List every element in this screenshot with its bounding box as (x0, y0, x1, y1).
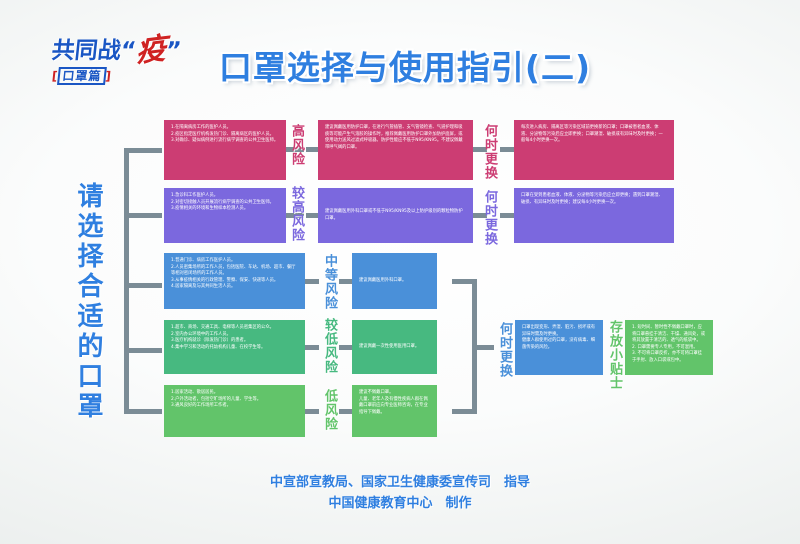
change-label-row-2: 何时更换 (482, 190, 496, 246)
mask-text-row-2: 建议佩戴医用外科口罩或不低于N95/KN95及以上防护级别的颗粒物防护口罩。 (325, 209, 466, 222)
right-bracket-stub-mid (472, 345, 494, 350)
connector-row-1-d (500, 147, 514, 152)
left-bracket-stub-2 (124, 213, 162, 218)
change-text-row-2: 口罩在受到患者血液、体液、分泌物等污染后应立即更换；遇到口罩潮湿、破损、有异味时… (521, 193, 667, 206)
footer: 中宣部宣教局、国家卫生健康委宣传司 指导 中国健康教育中心 制作 (0, 472, 800, 515)
scenario-box-row-2: 1.急诊科工作医护人员。 2.对密切接触人员开展流行病学调查的公共卫生医师。 3… (164, 188, 286, 243)
logo-prefix: 共同战 (50, 38, 122, 64)
campaign-logo: 共同战“疫” [口罩篇] (52, 34, 182, 96)
connector-row-5-b (339, 409, 352, 414)
mask-text-row-1: 建议佩戴医用防护口罩，在进行气管插管、支气管镜检查、气道护理和吸痰等可能产生气溶… (325, 125, 466, 151)
mask-text-row-4: 建议佩戴一次性使用医用口罩。 (359, 344, 430, 351)
risk-label-high: 高风险 (289, 124, 303, 166)
storage-tips-box: 1. 短时间、暂时性不佩戴口罩时，应将口罩悬挂于清洁、干燥、通风处，或将其放置于… (625, 320, 713, 375)
right-bracket-stub-top (452, 279, 477, 284)
scenario-box-row-3: 1.普通门诊、病房工作医护人员。 2.人员密集场所的工作人员，包括医院、车站、机… (164, 253, 305, 309)
footer-line-2: 中国健康教育中心 制作 (0, 493, 800, 514)
connector-row-2-d (500, 213, 514, 218)
connector-row-1-b (306, 147, 318, 152)
logo-main-text: 共同战“疫” (50, 34, 183, 64)
mask-box-row-3: 建议佩戴医用外科口罩。 (352, 253, 437, 309)
scenario-box-row-5: 1.居家活动、散居居民。 2.户外活动者，包括空旷场所的儿童、学生等。 3.通风… (164, 385, 305, 437)
risk-label-lower: 较低风险 (322, 318, 336, 374)
connector-row-4-a (305, 345, 319, 350)
logo-yi-character: 疫 (136, 34, 167, 67)
risk-label-medium: 中等风险 (322, 254, 336, 310)
page-title: 口罩选择与使用指引(二) (205, 46, 605, 90)
logo-subtitle: [口罩篇] (51, 67, 183, 84)
mask-box-row-5: 建议不佩戴口罩。 儿童、老年人及有慢性疾病人群在佩戴口罩前应向专业医师咨询，在专… (352, 385, 437, 437)
connector-row-3-a (305, 279, 319, 284)
scenario-text-row-2: 1.急诊科工作医护人员。 2.对密切接触人员开展流行病学调查的公共卫生医师。 3… (171, 193, 279, 213)
storage-tips-label: 存放小贴士 (607, 320, 621, 390)
footer-line-1: 中宣部宣教局、国家卫生健康委宣传司 指导 (0, 472, 800, 493)
scenario-box-row-4: 1.超市、商场、交通工具、电梯等人员密集区的公众。 2.室内办公环境中的工作人员… (164, 320, 305, 374)
right-bracket-stub-bottom (452, 409, 477, 414)
change-label-row-1: 何时更换 (482, 124, 496, 180)
left-bracket-stub-4 (124, 348, 162, 353)
logo-quote-close: ” (165, 38, 183, 64)
change-text-lower: 口罩出现变形、弄湿、脏污、损坏或有异味时需及时更换。 健康人群使用过的口罩，没有… (522, 325, 596, 351)
connector-row-2-b (306, 213, 318, 218)
mask-text-row-5: 建议不佩戴口罩。 儿童、老年人及有慢性疾病人群在佩戴口罩前应向专业医师咨询，在专… (359, 390, 430, 416)
mask-box-row-2: 建议佩戴医用外科口罩或不低于N95/KN95及以上防护级别的颗粒物防护口罩。 (318, 188, 473, 243)
change-text-row-1: 每次进入病房、隔离区等污染区域前更换新的口罩；口罩被患者血液、体液、分泌物等污染… (521, 125, 667, 145)
scenario-text-row-5: 1.居家活动、散居居民。 2.户外活动者，包括空旷场所的儿童、学生等。 3.通风… (171, 390, 298, 410)
change-box-lower: 口罩出现变形、弄湿、脏污、损坏或有异味时需及时更换。 健康人群使用过的口罩，没有… (515, 320, 603, 375)
infographic-canvas: 共同战“疫” [口罩篇] 口罩选择与使用指引(二) 请选择合适的口罩 1.在隔离… (0, 0, 800, 544)
left-bracket-stub-3 (124, 283, 162, 288)
risk-label-low: 低风险 (322, 389, 336, 431)
left-bracket-stub-5 (124, 409, 162, 414)
logo-bracket-right: ] (105, 69, 113, 83)
scenario-text-row-3: 1.普通门诊、病房工作医护人员。 2.人员密集场所的工作人员，包括医院、车站、机… (171, 258, 298, 291)
connector-row-3-b (339, 279, 352, 284)
connector-row-4-b (339, 345, 352, 350)
mask-text-row-3: 建议佩戴医用外科口罩。 (359, 278, 430, 285)
scenario-text-row-4: 1.超市、商场、交通工具、电梯等人员密集区的公众。 2.室内办公环境中的工作人员… (171, 325, 298, 351)
mask-box-row-4: 建议佩戴一次性使用医用口罩。 (352, 320, 437, 374)
change-box-row-2: 口罩在受到患者血液、体液、分泌物等污染后应立即更换；遇到口罩潮湿、破损、有异味时… (514, 188, 674, 243)
change-box-row-1: 每次进入病房、隔离区等污染区域前更换新的口罩；口罩被患者血液、体液、分泌物等污染… (514, 120, 674, 180)
vertical-headline: 请选择合适的口罩 (57, 182, 101, 422)
connector-row-5-a (305, 409, 319, 414)
logo-quote-open: “ (119, 38, 137, 64)
storage-tips-text: 1. 短时间、暂时性不佩戴口罩时，应将口罩悬挂于清洁、干燥、通风处，或将其放置于… (632, 325, 706, 364)
left-bracket-stub-1 (124, 148, 162, 153)
logo-subtitle-text: 口罩篇 (57, 67, 106, 85)
mask-box-row-1: 建议佩戴医用防护口罩，在进行气管插管、支气管镜检查、气道护理和吸痰等可能产生气溶… (318, 120, 473, 180)
scenario-text-row-1: 1.在隔离病房工作的医护人员。 2.疫区指定医疗机构发热门诊、隔离病区的医护人员… (171, 125, 279, 145)
risk-label-higher: 较高风险 (289, 186, 303, 242)
left-bracket-spine (124, 148, 129, 414)
change-label-lower: 何时更换 (497, 322, 511, 378)
scenario-box-row-1: 1.在隔离病房工作的医护人员。 2.疫区指定医疗机构发热门诊、隔离病区的医护人员… (164, 120, 286, 180)
